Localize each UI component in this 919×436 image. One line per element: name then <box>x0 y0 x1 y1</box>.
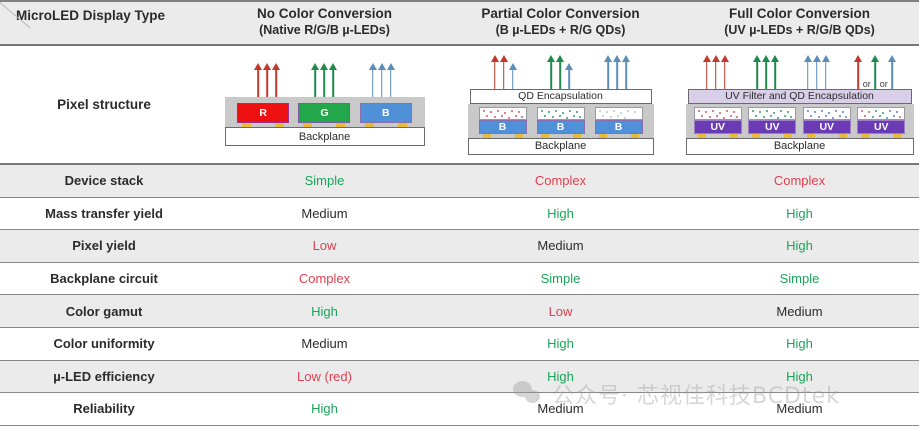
table-row: Device stack Simple Complex Complex <box>0 165 919 198</box>
pixel-structure-label: Pixel structure <box>0 46 208 163</box>
row-value: Medium <box>441 393 680 425</box>
row-value: Low <box>208 230 441 262</box>
diagram3-or-label-2: or <box>880 79 888 89</box>
diagram3-qd-red <box>694 107 742 120</box>
diagram1-led-g: G <box>298 103 350 123</box>
diagram1-body: R G B <box>225 63 425 146</box>
diagram2-backplane: Backplane <box>468 138 654 155</box>
diagram2-qd-green <box>537 107 585 120</box>
diagram3-led-uv4: UV <box>857 120 905 134</box>
row-value: Complex <box>680 165 919 197</box>
row-value: High <box>208 393 441 425</box>
row-value: High <box>208 295 441 327</box>
row-value: Medium <box>680 295 919 327</box>
row-value: Low <box>441 295 680 327</box>
comparison-table: MicroLED Display Type No Color Conversio… <box>0 0 919 436</box>
diagram1-led-b: B <box>360 103 412 123</box>
table-row: Backplane circuit Complex Simple Simple <box>0 263 919 296</box>
row-value: High <box>680 198 919 230</box>
diagram1-led-r: R <box>237 103 289 123</box>
diagram2-substrate: B B <box>468 104 654 138</box>
row-label: µ-LED efficiency <box>0 361 208 393</box>
diagram2-encapsulation: QD Encapsulation <box>470 89 652 104</box>
diagram3-backplane: Backplane <box>686 138 914 155</box>
header-col-no-conversion: No Color Conversion (Native R/G/B µ-LEDs… <box>208 2 441 44</box>
diagram1-backplane: Backplane <box>225 127 425 146</box>
row-label: Pixel yield <box>0 230 208 262</box>
row-value: High <box>680 230 919 262</box>
row-value: Low (red) <box>208 361 441 393</box>
row-label: Backplane circuit <box>0 263 208 295</box>
diagram3-qd-mixed <box>857 107 905 120</box>
table-row: Pixel yield Low Medium High <box>0 230 919 263</box>
row-value: Medium <box>680 393 919 425</box>
diagram3-arrows-blue <box>803 55 830 89</box>
diagram2-arrows-blue <box>604 55 631 89</box>
row-value: High <box>680 361 919 393</box>
diagram1-arrows-green <box>311 63 338 97</box>
diagram1-substrate: R G B <box>225 97 425 127</box>
row-label: Color gamut <box>0 295 208 327</box>
diagram2-arrows-green <box>547 55 574 89</box>
row-value: Complex <box>441 165 680 197</box>
row-value: High <box>441 198 680 230</box>
row-value: Complex <box>208 263 441 295</box>
diagram1-arrows-blue <box>368 63 395 97</box>
diagram3-arrows-red <box>702 55 729 89</box>
diagram3-led-uv3: UV <box>803 120 851 134</box>
row-value: Medium <box>208 328 441 360</box>
diagram-full-conversion: or or UV Filter and QD Encapsulation <box>680 46 919 163</box>
table-row: Color uniformity Medium High High <box>0 328 919 361</box>
diagram2-qd-red <box>479 107 527 120</box>
table-header-row: MicroLED Display Type No Color Conversio… <box>0 0 919 46</box>
diagram2-led-b2: B <box>537 120 585 134</box>
header-col1-line1: No Color Conversion <box>257 6 392 22</box>
diagram-native-rgb: R G B <box>208 46 441 163</box>
header-col1-line2: (Native R/G/B µ-LEDs) <box>259 22 390 38</box>
header-col3-line2: (UV µ-LEDs + R/G/B QDs) <box>724 22 875 38</box>
row-label: Mass transfer yield <box>0 198 208 230</box>
header-col-full-conversion: Full Color Conversion (UV µ-LEDs + R/G/B… <box>680 2 919 44</box>
diagram2-qd-clear <box>595 107 643 120</box>
row-value: Simple <box>441 263 680 295</box>
diagram3-led-uv1: UV <box>694 120 742 134</box>
diagram3-body: or or UV Filter and QD Encapsulation <box>686 55 914 155</box>
row-label: Color uniformity <box>0 328 208 360</box>
header-col3-line1: Full Color Conversion <box>729 6 870 22</box>
pixel-structure-row: Pixel structure <box>0 46 919 165</box>
diagram3-qd-blue <box>803 107 851 120</box>
header-row-label: MicroLED Display Type <box>0 2 208 44</box>
table-row: Mass transfer yield Medium High High <box>0 198 919 231</box>
diagram3-led-uv2: UV <box>748 120 796 134</box>
table-row: Color gamut High Low Medium <box>0 295 919 328</box>
row-value: Simple <box>208 165 441 197</box>
table-row: Reliability High Medium Medium <box>0 393 919 426</box>
row-value: Medium <box>441 230 680 262</box>
row-label: Device stack <box>0 165 208 197</box>
row-value: Medium <box>208 198 441 230</box>
diagram2-led-b3: B <box>595 120 643 134</box>
header-col2-line2: (B µ-LEDs + R/G QDs) <box>496 22 626 38</box>
diagram3-encapsulation: UV Filter and QD Encapsulation <box>688 89 912 104</box>
diagram3-or-label-1: or <box>863 79 871 89</box>
diagram1-arrows-red <box>254 63 281 97</box>
row-value: High <box>680 328 919 360</box>
table-row: µ-LED efficiency Low (red) High High <box>0 361 919 394</box>
diagram2-body: QD Encapsulation B <box>468 55 654 155</box>
header-col2-line1: Partial Color Conversion <box>481 6 639 22</box>
diagram-partial-conversion: QD Encapsulation B <box>441 46 680 163</box>
diagram3-qd-green <box>748 107 796 120</box>
row-value: Simple <box>680 263 919 295</box>
diagram2-arrows-red <box>490 55 517 89</box>
diagram2-led-b1: B <box>479 120 527 134</box>
diagram3-substrate: UV UV <box>686 104 914 138</box>
diagram3-arrows-selectable: or or <box>854 55 897 89</box>
row-label: Reliability <box>0 393 208 425</box>
row-value: High <box>441 328 680 360</box>
row-value: High <box>441 361 680 393</box>
diagram3-arrows-green <box>753 55 780 89</box>
header-col-partial-conversion: Partial Color Conversion (B µ-LEDs + R/G… <box>441 2 680 44</box>
